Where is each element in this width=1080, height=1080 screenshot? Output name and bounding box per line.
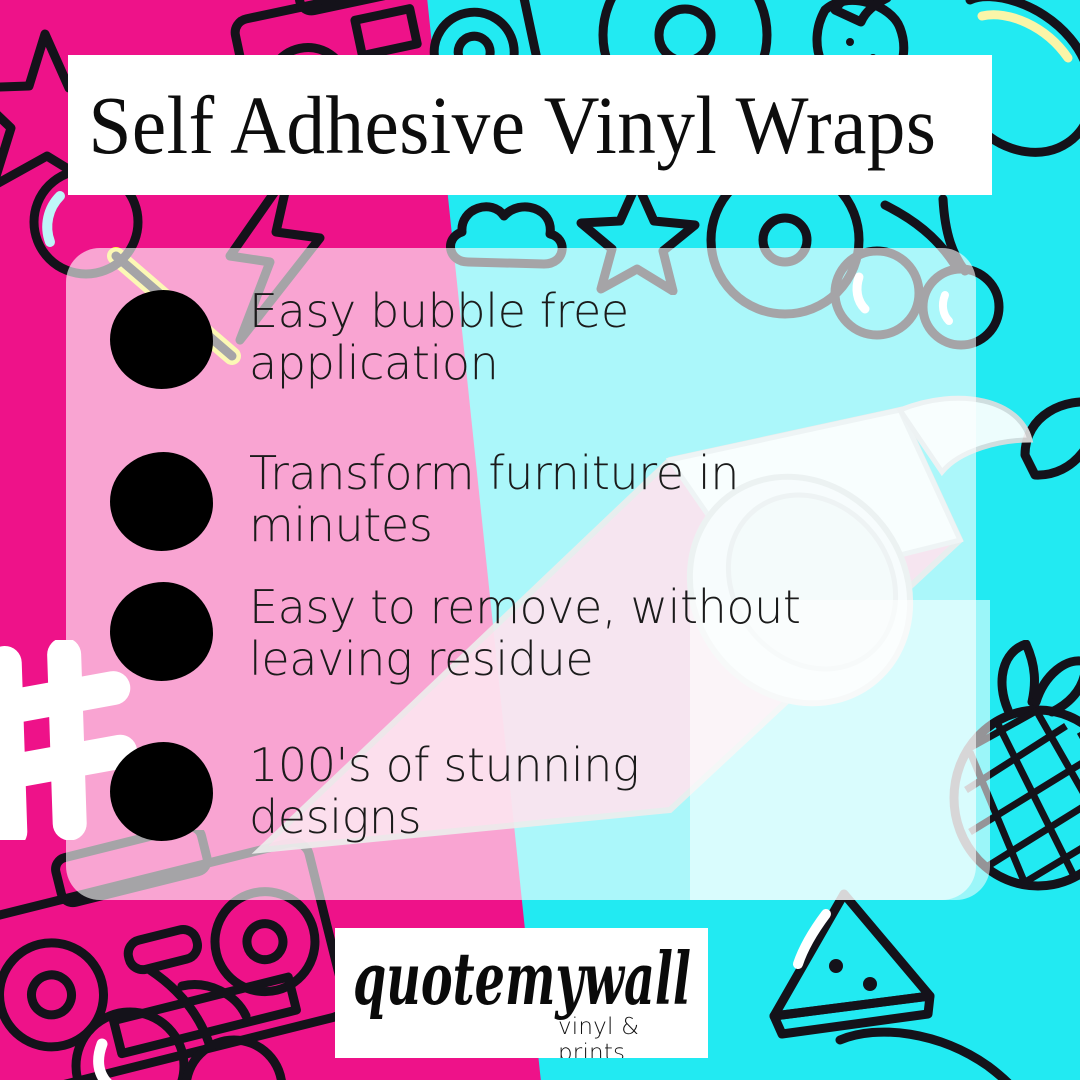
promo-image: Self Adhesive Vinyl Wraps Easy bubble fr…: [0, 0, 1080, 1080]
list-item: Transform furniture in minutes: [110, 448, 970, 552]
feature-text: Easy to remove, without leaving residue: [249, 582, 801, 686]
page-title: Self Adhesive Vinyl Wraps: [68, 84, 936, 167]
title-banner: Self Adhesive Vinyl Wraps: [68, 55, 992, 195]
list-item: 100's of stunning designs: [110, 738, 970, 844]
svg-text:quotemywall: quotemywall: [353, 936, 691, 1021]
bullet-dot-icon: [110, 290, 213, 389]
feature-list: Easy bubble free application Transform f…: [66, 248, 976, 900]
list-item: Easy bubble free application: [110, 286, 970, 390]
logo-wordmark: quotemywall: [353, 934, 693, 1026]
banana-icon: [820, 1010, 1070, 1080]
bullet-dot-icon: [110, 582, 213, 681]
list-item: Easy to remove, without leaving residue: [110, 578, 970, 686]
feature-text: 100's of stunning designs: [249, 740, 639, 844]
bullet-dot-icon: [110, 742, 213, 841]
bullet-dot-icon: [110, 452, 213, 551]
feature-text: Transform furniture in minutes: [249, 448, 739, 552]
logo-tagline: vinyl & prints: [558, 1014, 708, 1058]
feature-text: Easy bubble free application: [249, 286, 629, 390]
brand-logo: quotemywall vinyl & prints: [335, 928, 708, 1058]
